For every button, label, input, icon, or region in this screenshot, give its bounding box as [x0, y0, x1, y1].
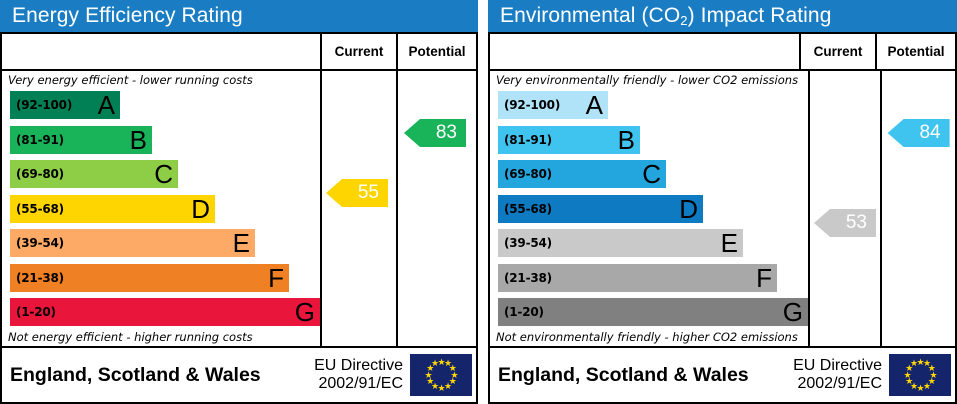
- band-range-label: (21-38): [504, 271, 552, 285]
- band-range-label: (21-38): [16, 271, 64, 285]
- energy-band-list: (92-100) A (81-91) B (69-80) C (55-68): [2, 89, 320, 328]
- co2-title-prefix: Environmental (CO: [500, 4, 680, 27]
- band-range-label: (1-20): [504, 305, 544, 319]
- energy-footer-country: England, Scotland & Wales: [10, 364, 314, 387]
- band-range-label: (69-80): [504, 167, 552, 181]
- band-row: (69-80) C: [10, 160, 178, 188]
- band-range-label: (1-20): [16, 305, 56, 319]
- band-row: (39-54) E: [498, 229, 743, 257]
- band-range-label: (39-54): [16, 236, 64, 250]
- epc-charts-page: Energy Efficiency Rating Current Potenti…: [0, 0, 957, 404]
- energy-potential-value: 83: [436, 122, 457, 144]
- energy-current-value: 55: [358, 182, 379, 204]
- energy-potential-arrow: 83: [404, 119, 466, 147]
- band-row: (55-68) D: [498, 195, 703, 223]
- band-letter-label: D: [679, 196, 698, 222]
- energy-directive-line2: 2002/91/EC: [314, 375, 403, 394]
- co2-caption-bottom: Not environmentally friendly - higher CO…: [490, 328, 808, 346]
- band-row: (39-54) E: [10, 229, 255, 257]
- band-letter-label: E: [721, 230, 738, 256]
- co2-table-body-row: Very environmentally friendly - lower CO…: [490, 71, 955, 348]
- band-letter-label: C: [642, 161, 661, 187]
- co2-directive-line1: EU Directive: [793, 357, 882, 376]
- co2-potential-arrow: 84: [888, 119, 950, 147]
- band-letter-label: G: [783, 299, 803, 325]
- band-letter-label: B: [130, 127, 147, 153]
- band-row: (92-100) A: [498, 91, 608, 119]
- co2-footer-directive: EU Directive 2002/91/EC: [793, 357, 889, 394]
- band-range-label: (55-68): [504, 202, 552, 216]
- energy-caption-bottom: Not energy efficient - higher running co…: [2, 328, 320, 346]
- co2-current-value: 53: [846, 212, 867, 234]
- co2-footer-country: England, Scotland & Wales: [498, 364, 793, 387]
- energy-current-column: 55: [320, 71, 396, 346]
- co2-title-suffix: ) Impact Rating: [688, 4, 832, 27]
- band-letter-label: E: [233, 230, 250, 256]
- co2-bands-column: Very environmentally friendly - lower CO…: [490, 71, 808, 346]
- band-row: (21-38) F: [10, 264, 289, 292]
- energy-header-potential: Potential: [396, 34, 476, 69]
- band-letter-label: A: [586, 92, 603, 118]
- energy-header-blank-cell: [2, 34, 320, 69]
- co2-current-column: 53: [808, 71, 880, 346]
- band-letter-label: B: [618, 127, 635, 153]
- band-row: (81-91) B: [498, 126, 640, 154]
- band-letter-label: F: [756, 265, 772, 291]
- co2-header-blank-cell: [490, 34, 799, 69]
- band-row: (1-20) G: [10, 298, 320, 326]
- band-range-label: (69-80): [16, 167, 64, 181]
- environmental-impact-chart: Environmental (CO2) Impact Rating Curren…: [488, 0, 957, 404]
- co2-footer-row: England, Scotland & Wales EU Directive 2…: [490, 348, 955, 402]
- band-letter-label: A: [98, 92, 115, 118]
- energy-table-body-row: Very energy efficient - lower running co…: [2, 71, 476, 348]
- co2-current-arrow: 53: [814, 209, 876, 237]
- energy-chart-title: Energy Efficiency Rating: [0, 0, 478, 32]
- band-row: (69-80) C: [498, 160, 666, 188]
- eu-star-icon: ★: [431, 360, 438, 367]
- eu-flag-icon: ★★★★★★★★★★★★: [889, 354, 951, 396]
- energy-footer-row: England, Scotland & Wales EU Directive 2…: [2, 348, 476, 402]
- band-letter-label: C: [154, 161, 173, 187]
- band-range-label: (92-100): [504, 98, 560, 112]
- energy-bands-column: Very energy efficient - lower running co…: [2, 71, 320, 346]
- energy-current-arrow: 55: [326, 179, 388, 207]
- energy-efficiency-chart: Energy Efficiency Rating Current Potenti…: [0, 0, 478, 404]
- energy-directive-line1: EU Directive: [314, 357, 403, 376]
- eu-star-icon: ★: [910, 360, 917, 367]
- co2-potential-value: 84: [919, 122, 940, 144]
- energy-chart-table: Current Potential Very energy efficient …: [0, 32, 478, 404]
- energy-potential-column: 83: [396, 71, 476, 346]
- co2-chart-table: Current Potential Very environmentally f…: [488, 32, 957, 404]
- band-range-label: (92-100): [16, 98, 72, 112]
- band-row: (81-91) B: [10, 126, 152, 154]
- band-row: (55-68) D: [10, 195, 215, 223]
- band-letter-label: G: [295, 299, 315, 325]
- co2-header-potential: Potential: [875, 34, 955, 69]
- band-range-label: (81-91): [504, 133, 552, 147]
- co2-band-list: (92-100) A (81-91) B (69-80) C (55-68): [490, 89, 808, 328]
- band-range-label: (55-68): [16, 202, 64, 216]
- energy-footer-directive: EU Directive 2002/91/EC: [314, 357, 410, 394]
- co2-table-header-row: Current Potential: [490, 34, 955, 71]
- co2-potential-column: 84: [880, 71, 955, 346]
- band-row: (92-100) A: [10, 91, 120, 119]
- co2-caption-top: Very environmentally friendly - lower CO…: [490, 71, 808, 89]
- band-row: (21-38) F: [498, 264, 777, 292]
- energy-table-header-row: Current Potential: [2, 34, 476, 71]
- band-range-label: (81-91): [16, 133, 64, 147]
- band-range-label: (39-54): [504, 236, 552, 250]
- band-letter-label: D: [191, 196, 210, 222]
- co2-title-subscript: 2: [680, 13, 687, 28]
- band-row: (1-20) G: [498, 298, 808, 326]
- energy-caption-top: Very energy efficient - lower running co…: [2, 71, 320, 89]
- co2-directive-line2: 2002/91/EC: [793, 375, 882, 394]
- eu-flag-icon: ★★★★★★★★★★★★: [410, 354, 472, 396]
- band-letter-label: F: [268, 265, 284, 291]
- co2-header-current: Current: [799, 34, 875, 69]
- co2-chart-title: Environmental (CO2) Impact Rating: [488, 0, 957, 32]
- energy-header-current: Current: [320, 34, 396, 69]
